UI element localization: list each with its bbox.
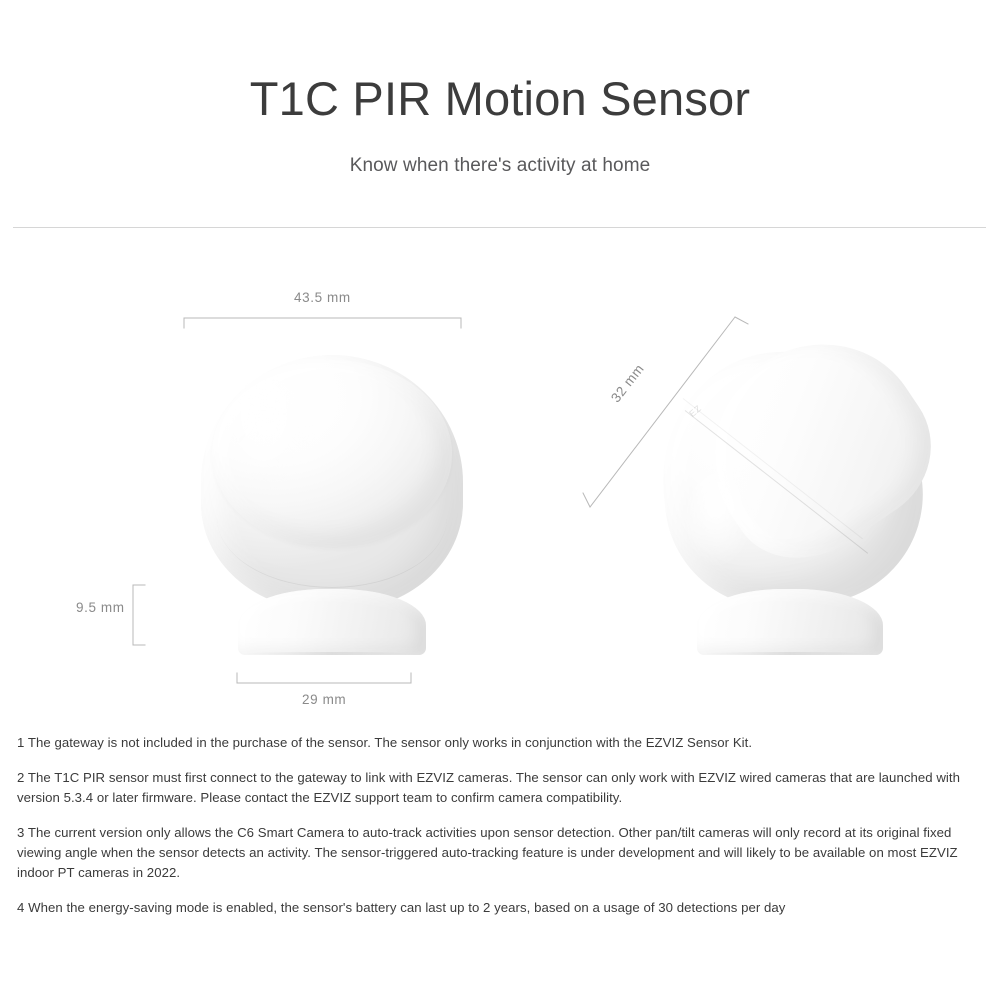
dimension-label-base-width-29: 29 mm bbox=[302, 692, 346, 707]
page-header: T1C PIR Motion Sensor Know when there's … bbox=[0, 0, 1000, 177]
front-view-base-stand bbox=[238, 589, 426, 655]
side-view-base-stand bbox=[697, 589, 883, 655]
footnote-item: 2 The T1C PIR sensor must first connect … bbox=[17, 768, 985, 808]
dimension-line-width-43-5 bbox=[184, 318, 461, 328]
dimension-line-base-width-29 bbox=[237, 673, 411, 683]
page-subtitle: Know when there's activity at home bbox=[0, 126, 1000, 177]
side-view-device-render: EZ bbox=[663, 348, 933, 655]
dimension-line-height-9-5 bbox=[133, 585, 145, 645]
product-image-stage: EZ 43.5 mm 9.5 mm 29 mm 32 mm bbox=[0, 248, 1000, 718]
page-title: T1C PIR Motion Sensor bbox=[0, 0, 1000, 126]
dimension-label-height-9-5: 9.5 mm bbox=[76, 600, 125, 615]
header-divider bbox=[13, 227, 986, 228]
front-view-highlight bbox=[231, 375, 313, 487]
side-view-highlight bbox=[687, 468, 757, 568]
footnote-item: 1 The gateway is not included in the pur… bbox=[17, 733, 985, 753]
dimension-label-depth-32: 32 mm bbox=[608, 361, 647, 405]
dimension-label-width-43-5: 43.5 mm bbox=[294, 290, 351, 305]
footnote-item: 3 The current version only allows the C6… bbox=[17, 823, 985, 883]
front-view-body bbox=[201, 355, 463, 610]
front-view-seam-line bbox=[217, 518, 447, 588]
front-view-device-render bbox=[201, 355, 463, 655]
product-spec-page: T1C PIR Motion Sensor Know when there's … bbox=[0, 0, 1000, 1000]
footnotes-list: 1 The gateway is not included in the pur… bbox=[17, 733, 985, 918]
footnote-item: 4 When the energy-saving mode is enabled… bbox=[17, 898, 985, 918]
